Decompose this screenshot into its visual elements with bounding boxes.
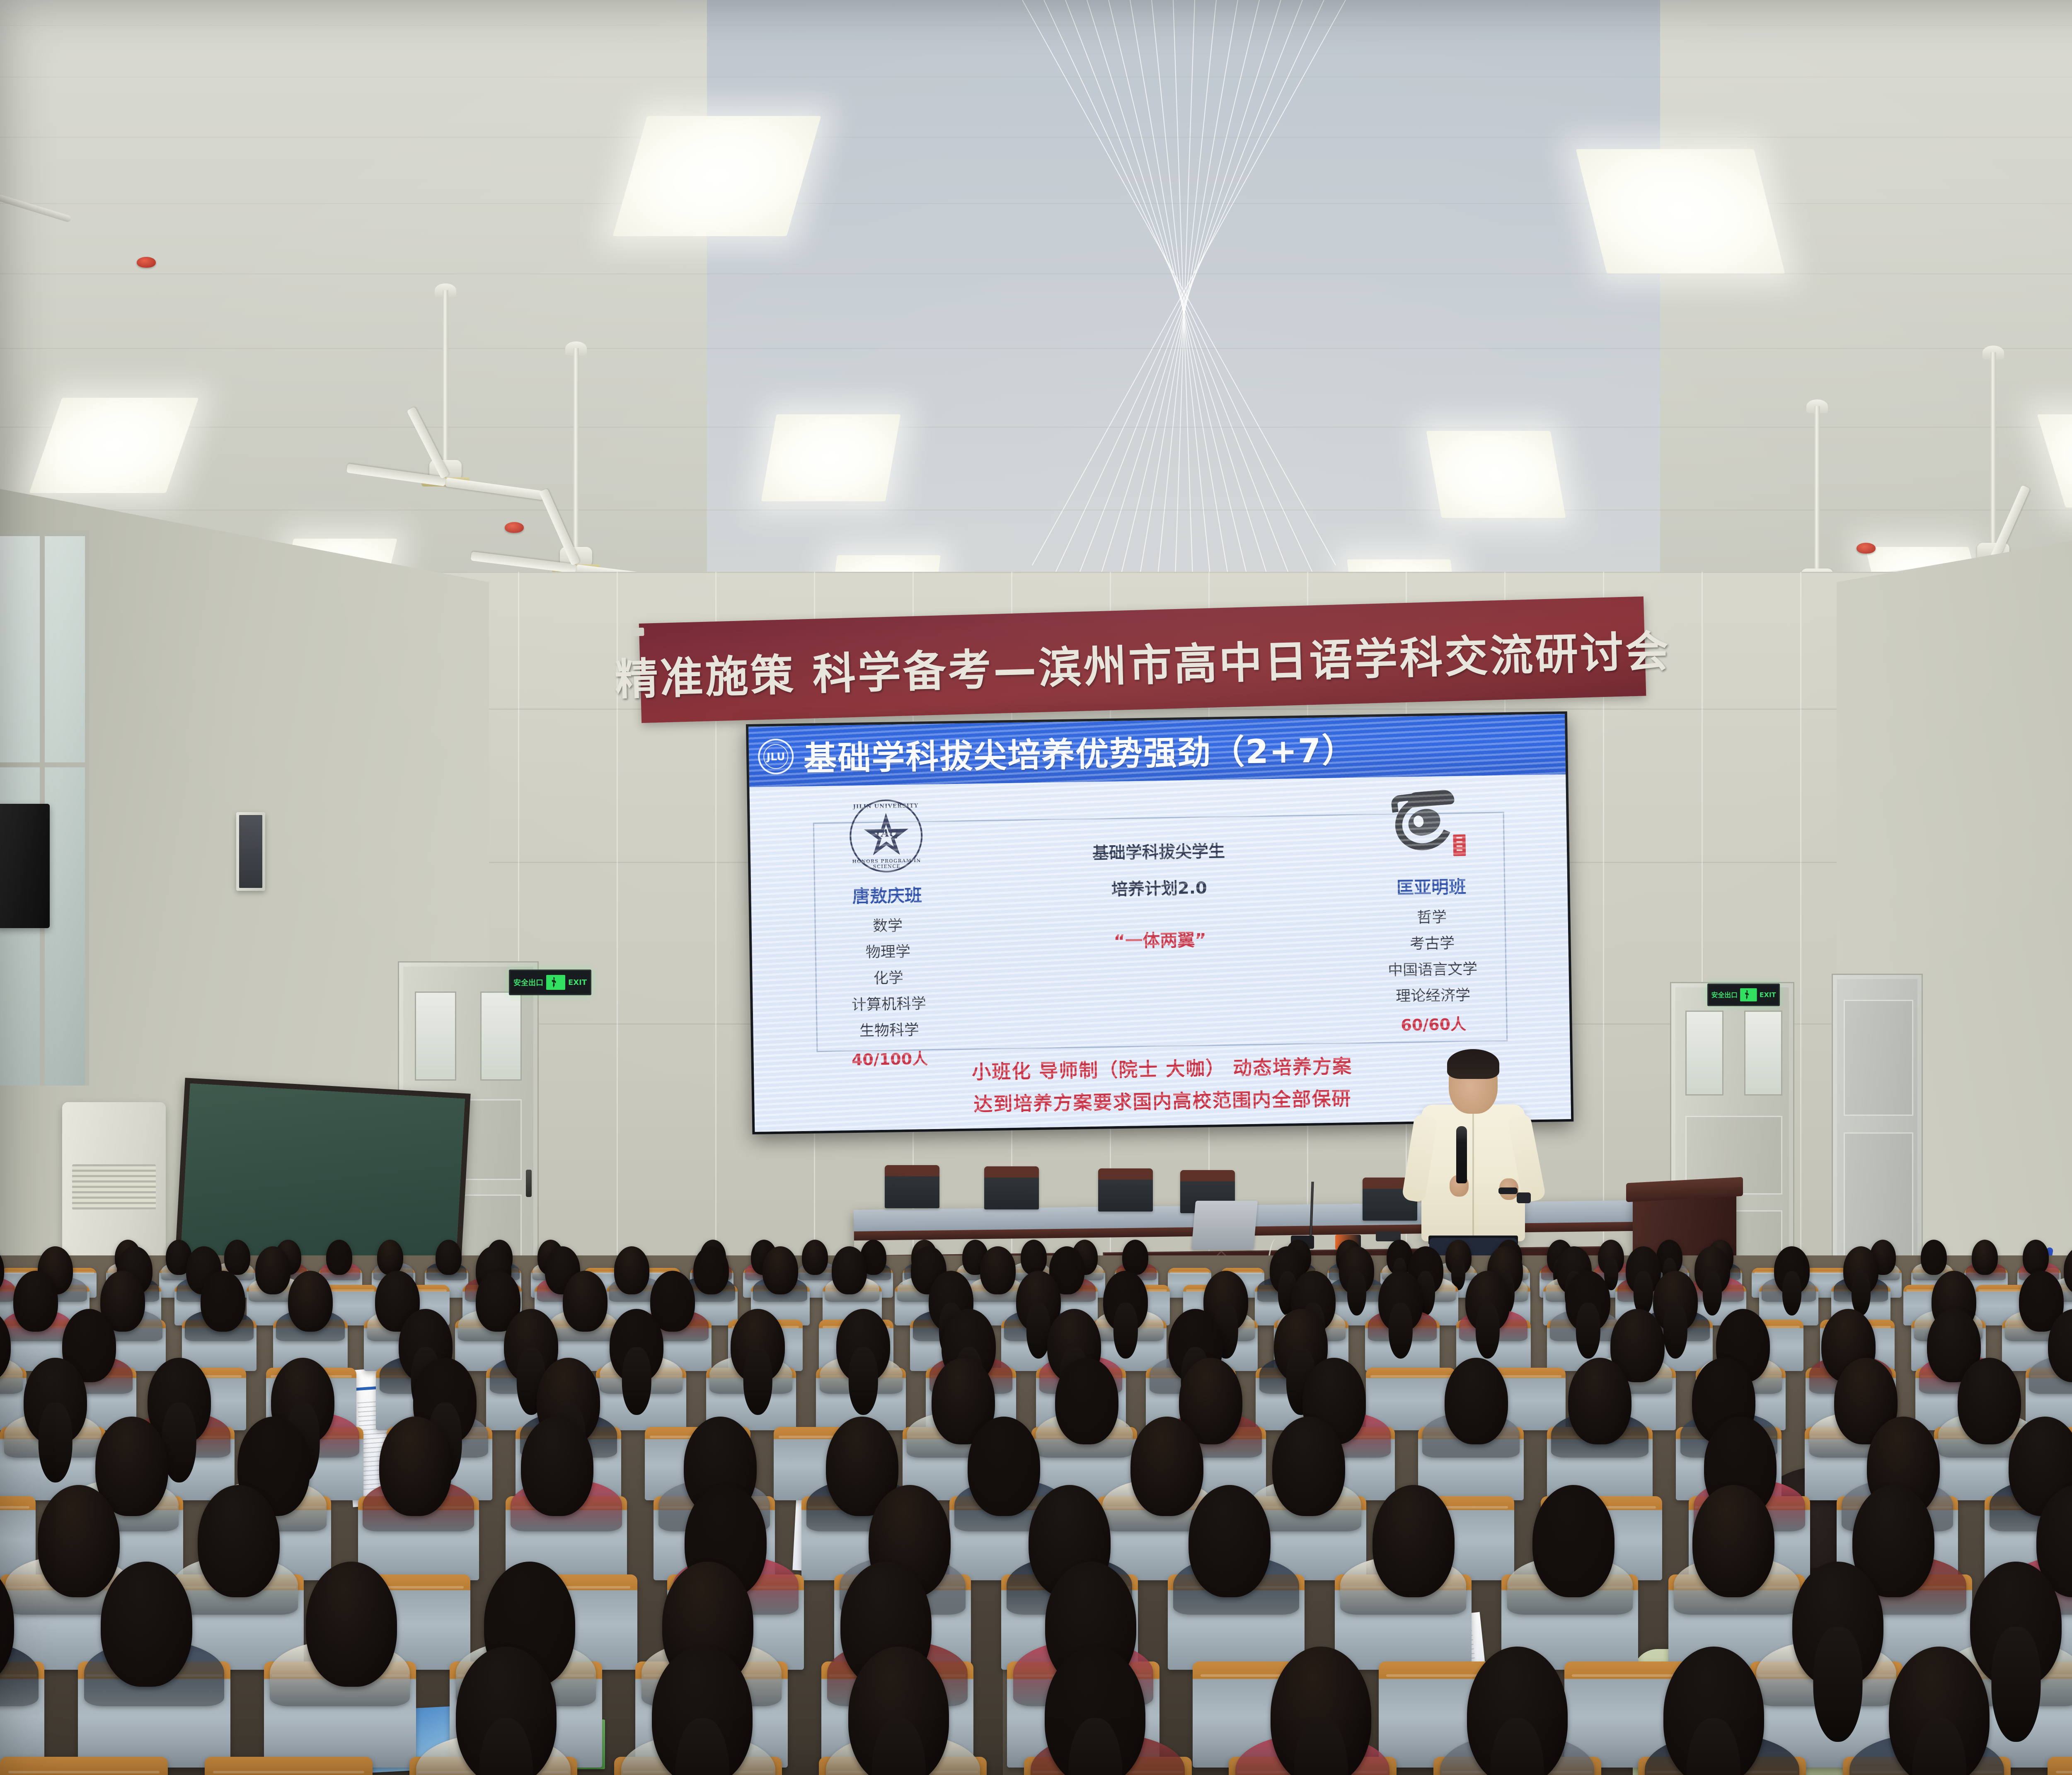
audience-head [1958,1358,2021,1444]
ceiling-grid-line [0,348,2072,349]
right-major-item: 理论经济学 [1297,982,1569,1007]
audience-head [1843,1246,1879,1294]
presenter-hair [1447,1049,1499,1079]
ceiling-fan [472,348,680,597]
kuangyaming-brush-logo-icon [1388,791,1472,865]
audience-head [1055,1358,1118,1444]
right-major-item: 考古学 [1296,929,1568,955]
audience-head [1970,1562,2062,1687]
fan-rod [443,290,448,464]
center-heading-line1: 基础学科拔尖学生 [1022,837,1295,865]
audience-head [1774,1246,1810,1294]
ceiling-grid-line [0,273,2072,274]
university-seal-icon: JLU [758,738,794,774]
audience-head [2023,1240,2049,1275]
banner-text: 精准施策 科学备考—滨州市高中日语学科交流研讨会 [614,616,1671,707]
audience-head [1339,1246,1375,1294]
audience-head [1378,1271,1423,1332]
ceiling-light-panel [29,398,198,493]
audience-head [24,1358,87,1444]
audience-head [693,1246,729,1294]
exit-sign-left: 安全出口 EXIT [509,970,591,995]
audience-head [306,1562,397,1687]
stage-chair [885,1165,939,1208]
exit-sign-en-label: EXIT [568,978,587,987]
red-seal-stamp-icon [1453,834,1466,856]
running-man-icon [546,975,565,990]
ceiling-light-panel [612,116,821,236]
ceiling-grid-line [0,137,2072,138]
ceiling-grid-line [0,77,2072,77]
slide-title: 基础学科拔尖培养优势强劲（2+7） [803,723,1356,780]
audience-head [1972,1240,1998,1275]
audience-head [1021,1240,1047,1275]
seal-ring-bottom-text: HONORS PROGRAM IN SCIENCE [852,858,921,870]
audience-head [610,1309,664,1383]
exit-sign-cn-label: 安全出口 [513,977,543,988]
wall-tile-seam [1800,572,1801,1284]
door-window-pane [1744,1011,1782,1095]
ceiling-grid-line [0,25,2072,26]
audience-head [288,1271,333,1332]
fan-rod [1991,352,1996,547]
audience-head [836,1309,891,1383]
audience-head [832,1246,867,1294]
audience-head [1372,1485,1455,1597]
door-window-pane [480,991,522,1081]
left-class-name: 唐敖庆班 [751,880,1024,909]
exit-sign-right: 安全出口 EXIT [1707,984,1780,1006]
laptop[interactable] [1191,1201,1258,1250]
audience-head [1566,1271,1610,1332]
presentation-clicker [1498,1187,1518,1194]
audience-head [1694,1246,1730,1294]
audience-head [762,1246,798,1294]
brush-top-stroke [1407,789,1455,808]
audience-head [1653,1271,1698,1332]
audience-head [1532,1485,1615,1597]
audience-head [731,1309,785,1383]
ceiling-light-panel [761,414,900,501]
auditorium-seat[interactable] [2048,1757,2072,1775]
lecture-hall-photo: 安全出口 EXIT 安全出口 EXIT 精准施策 科学备考—滨州市高中日语学科交… [0,0,2072,1775]
audience-head [1692,1485,1774,1597]
slide-column-right: 匡亚明班 哲学 考古学 中国语言文学 理论经济学 60/60人 [1294,774,1570,1037]
left-major-item: 生物科学 [753,1016,1025,1042]
slide-column-center: 基础学科拔尖学生 培养计划2.0 “一体两翼” [1021,779,1296,954]
audience-head [1122,1240,1148,1275]
audience-head [1130,1417,1203,1516]
sprinkler-pipe [0,194,72,222]
audience-head [456,1647,557,1775]
exit-sign-cn-label: 安全出口 [1711,990,1738,1000]
left-major-item: 物理学 [752,938,1024,964]
jilin-honors-seal-icon: JILIN UNIVERSITY TAQ HONORS PROGRAM IN S… [849,799,923,873]
ac-grille [72,1164,156,1210]
audience-head [1568,1358,1631,1444]
audience-head [436,1240,462,1275]
audience-head [1792,1562,1884,1687]
audience-head [521,1417,594,1516]
audience-head [968,1417,1041,1516]
audience-head [802,1240,828,1275]
audience-head [563,1271,608,1332]
audience-head [1598,1240,1624,1275]
exit-sign-en-label: EXIT [1760,991,1776,999]
door-handle[interactable] [526,1170,532,1197]
left-major-item: 数学 [751,912,1024,938]
column-speaker-left [236,812,265,891]
audience-head [1445,1358,1508,1444]
stage-chair [1098,1168,1153,1212]
audience-head [379,1417,452,1516]
seal-ring-top-text: JILIN UNIVERSITY [851,803,920,810]
wristwatch [1517,1192,1531,1203]
ceiling-light-panel [1576,149,1785,273]
center-heading-line2: 培养计划2.0 [1023,873,1296,901]
right-major-item: 哲学 [1295,903,1568,929]
audience-head [224,1240,250,1275]
slide-column-left: JILIN UNIVERSITY TAQ HONORS PROGRAM IN S… [749,783,1026,1071]
tangaoqing-logo-wrap: JILIN UNIVERSITY TAQ HONORS PROGRAM IN S… [750,791,1023,882]
audience-head [1921,1240,1947,1275]
audience-head [614,1246,650,1294]
audience-head [101,1562,192,1687]
audience-head [201,1271,245,1332]
running-man-icon [1740,988,1757,1001]
audience-head [1467,1647,1568,1775]
wall-speaker-left [0,804,50,928]
audience-head [38,1485,120,1597]
auditorium-seat[interactable] [205,1757,373,1775]
center-slogan: “一体两翼” [1024,924,1296,954]
audience-head [1465,1271,1510,1332]
right-class-name: 匡亚明班 [1295,871,1568,901]
audience-head [377,1240,403,1275]
audience-head [13,1271,58,1332]
door-panel [1844,1132,1913,1257]
ceiling-light-panel [1426,431,1566,518]
seal-monogram: TAQ [874,827,898,839]
right-major-item: 中国语言文学 [1296,955,1569,981]
auditorium-seat[interactable] [0,1757,168,1775]
left-major-item: 化学 [752,964,1024,990]
door-panel [1844,1000,1913,1116]
audience-head [1272,1417,1345,1516]
door-window-pane [1685,1011,1723,1095]
right-enrollment-count: 60/60人 [1297,1010,1569,1037]
handheld-microphone [1456,1126,1467,1183]
seal-label: JLU [767,750,785,763]
audience-head [1663,1647,1764,1775]
audience-head [1445,1240,1472,1275]
audience-head [255,1246,291,1294]
audience-head [1103,1271,1148,1332]
stage-chair [984,1166,1039,1209]
smoke-detector-icon [137,257,156,268]
audience-head [1188,1485,1271,1597]
fan-rod [1815,406,1820,572]
audience-head [980,1246,1016,1294]
fan-rod [574,348,579,551]
door-window-pane [415,991,456,1081]
audience-head [326,1240,352,1275]
audience-head [198,1485,280,1597]
kuangyaming-logo-wrap [1294,782,1567,873]
left-major-item: 计算机科学 [753,990,1025,1016]
